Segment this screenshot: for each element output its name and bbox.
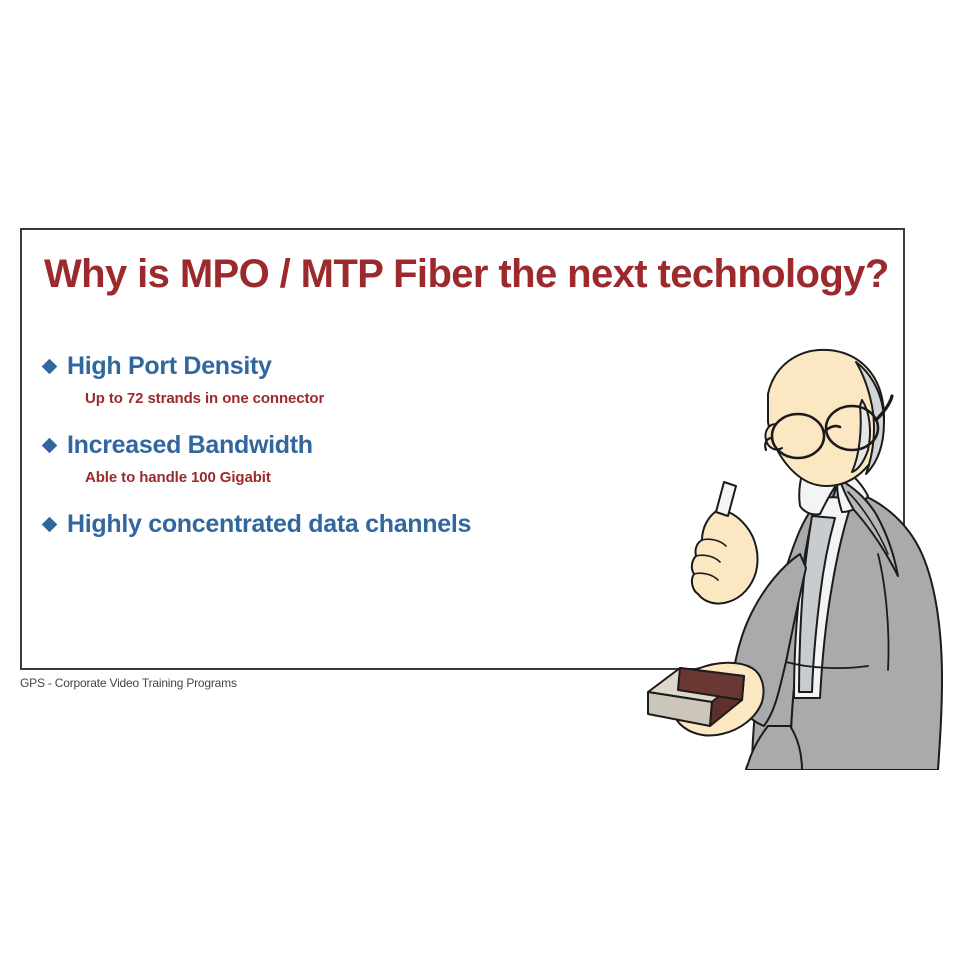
footer-credit: GPS - Corporate Video Training Programs xyxy=(20,676,237,690)
bullet-heading: Increased Bandwidth xyxy=(67,431,313,460)
whiteboard-frame: Why is MPO / MTP Fiber the next technolo… xyxy=(20,228,905,670)
bullet-heading: Highly concentrated data channels xyxy=(67,510,471,539)
bullet-item-1: High Port Density Up to 72 strands in on… xyxy=(40,352,680,407)
page-title: Why is MPO / MTP Fiber the next technolo… xyxy=(44,252,889,297)
bullet-subtext: Able to handle 100 Gigabit xyxy=(85,469,680,486)
diamond-bullet-icon xyxy=(42,517,58,533)
diamond-bullet-icon xyxy=(42,359,58,375)
bullet-item-2: Increased Bandwidth Able to handle 100 G… xyxy=(40,431,680,486)
bullet-heading-row: Increased Bandwidth xyxy=(40,431,680,460)
bullet-heading-row: High Port Density xyxy=(40,352,680,381)
bullet-heading-row: Highly concentrated data channels xyxy=(40,510,680,539)
diamond-bullet-icon xyxy=(42,438,58,454)
hand-with-eraser xyxy=(672,663,764,736)
chalkboard-eraser-icon xyxy=(648,668,744,726)
bullet-heading: High Port Density xyxy=(67,352,272,381)
slide-canvas: Why is MPO / MTP Fiber the next technolo… xyxy=(0,0,960,960)
bullet-item-3: Highly concentrated data channels xyxy=(40,510,680,539)
bullet-subtext: Up to 72 strands in one connector xyxy=(85,390,680,407)
bullet-list: High Port Density Up to 72 strands in on… xyxy=(40,352,680,563)
suit-sleeve-lower-arm xyxy=(746,726,802,770)
